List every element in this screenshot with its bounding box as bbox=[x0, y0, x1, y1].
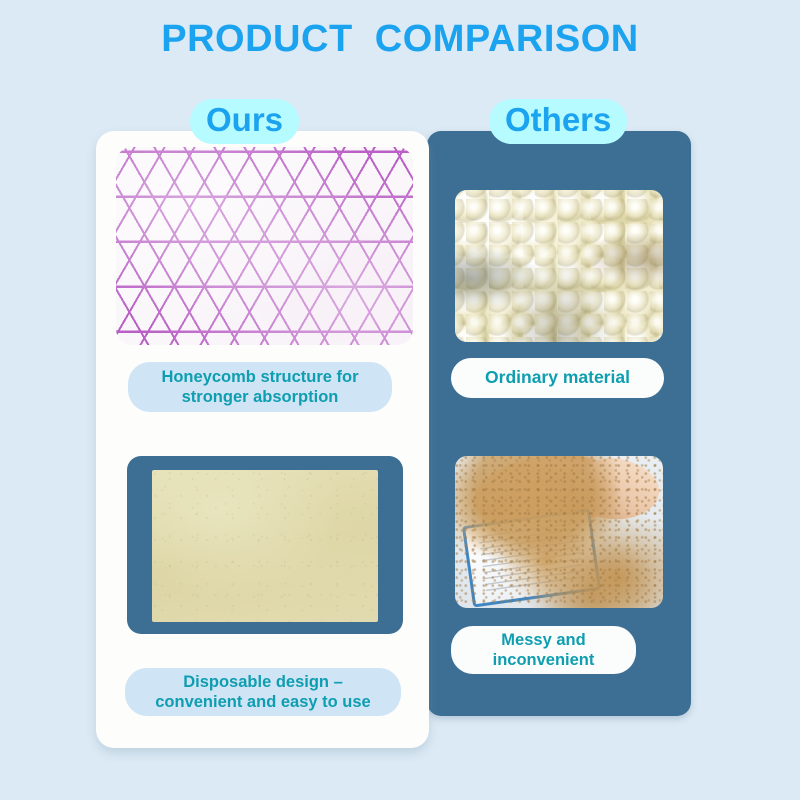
messy-spilled-granules-photo bbox=[455, 456, 663, 608]
caption-disposable-design: Disposable design – convenient and easy … bbox=[125, 668, 401, 716]
absorbent-pad-photo bbox=[127, 456, 403, 634]
pad-texture-overlay bbox=[152, 470, 378, 622]
caption-ordinary-material: Ordinary material bbox=[451, 358, 664, 398]
page-title: PRODUCT COMPARISON bbox=[0, 18, 800, 61]
beads-shadow-overlay bbox=[455, 190, 663, 342]
honeycomb-sheet-photo bbox=[116, 147, 413, 345]
honeycomb-sheen-overlay bbox=[116, 147, 413, 345]
silica-gel-beads-photo bbox=[455, 190, 663, 342]
column-header-ours: Ours bbox=[190, 99, 299, 144]
caption-messy-inconvenient: Messy and inconvenient bbox=[451, 626, 636, 674]
granule-grain-overlay bbox=[455, 456, 663, 608]
absorbent-pad-surface bbox=[152, 470, 378, 622]
column-header-others: Others bbox=[489, 99, 627, 144]
caption-honeycomb-absorption: Honeycomb structure for stronger absorpt… bbox=[128, 362, 392, 412]
